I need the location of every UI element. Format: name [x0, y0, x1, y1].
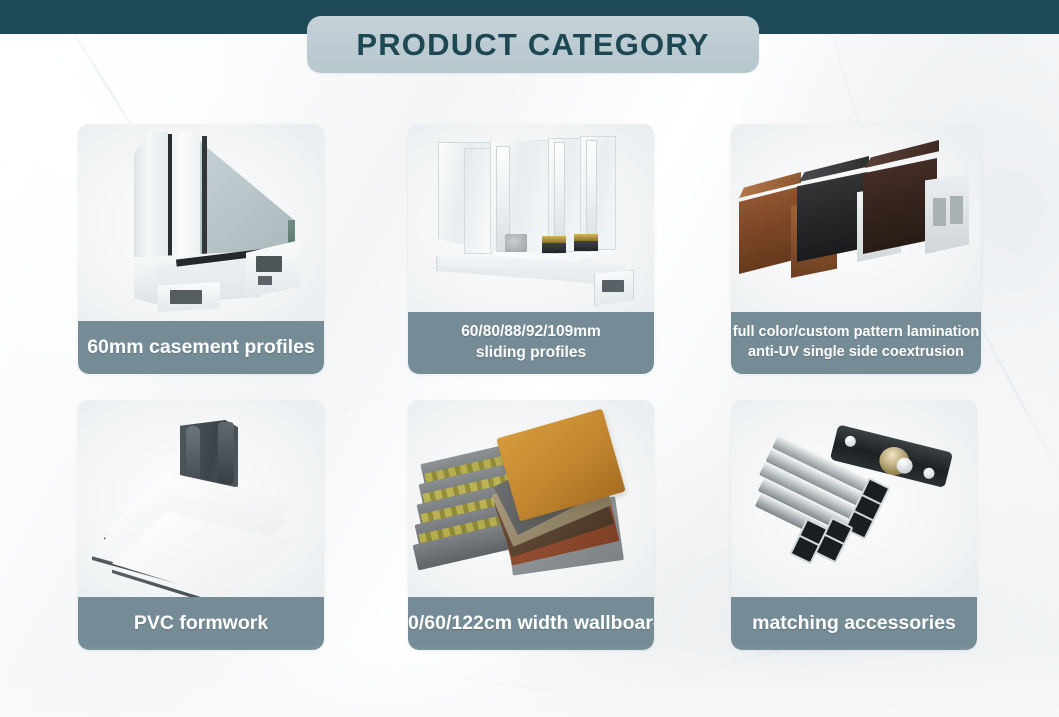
caption-line: matching accessories [752, 610, 956, 636]
category-grid: 60mm casement profiles [0, 0, 1059, 717]
product-category-banner: PRODUCT CATEGORY [0, 0, 1059, 717]
caption-line: PVC formwork [134, 610, 268, 636]
category-card-pvc-formwork[interactable]: PVC formwork [78, 400, 324, 650]
category-card-sliding-profiles[interactable]: 60/80/88/92/109mm sliding profiles [408, 124, 654, 374]
category-card-matching-accessories[interactable]: matching accessories [731, 400, 977, 650]
card-caption-wallboard: 40/60/122cm width wallboard [408, 597, 654, 650]
caption-line: anti-UV single side coextrusion [748, 343, 964, 363]
card-caption-sliding-profiles: 60/80/88/92/109mm sliding profiles [408, 312, 654, 374]
card-caption-casement-profiles: 60mm casement profiles [78, 321, 324, 374]
caption-line: 60/80/88/92/109mm [461, 322, 601, 343]
caption-line: sliding profiles [476, 343, 586, 364]
card-caption-matching-accessories: matching accessories [731, 597, 977, 650]
caption-line: 40/60/122cm width wallboard [408, 610, 654, 636]
card-caption-lamination-coextrusion: full color/custom pattern lamination ant… [731, 312, 981, 374]
caption-line: full color/custom pattern lamination [733, 323, 980, 343]
category-card-lamination-coextrusion[interactable]: full color/custom pattern lamination ant… [731, 124, 981, 374]
caption-line: 60mm casement profiles [87, 334, 315, 360]
card-caption-pvc-formwork: PVC formwork [78, 597, 324, 650]
category-card-casement-profiles[interactable]: 60mm casement profiles [78, 124, 324, 374]
category-card-wallboard[interactable]: 40/60/122cm width wallboard [408, 400, 654, 650]
